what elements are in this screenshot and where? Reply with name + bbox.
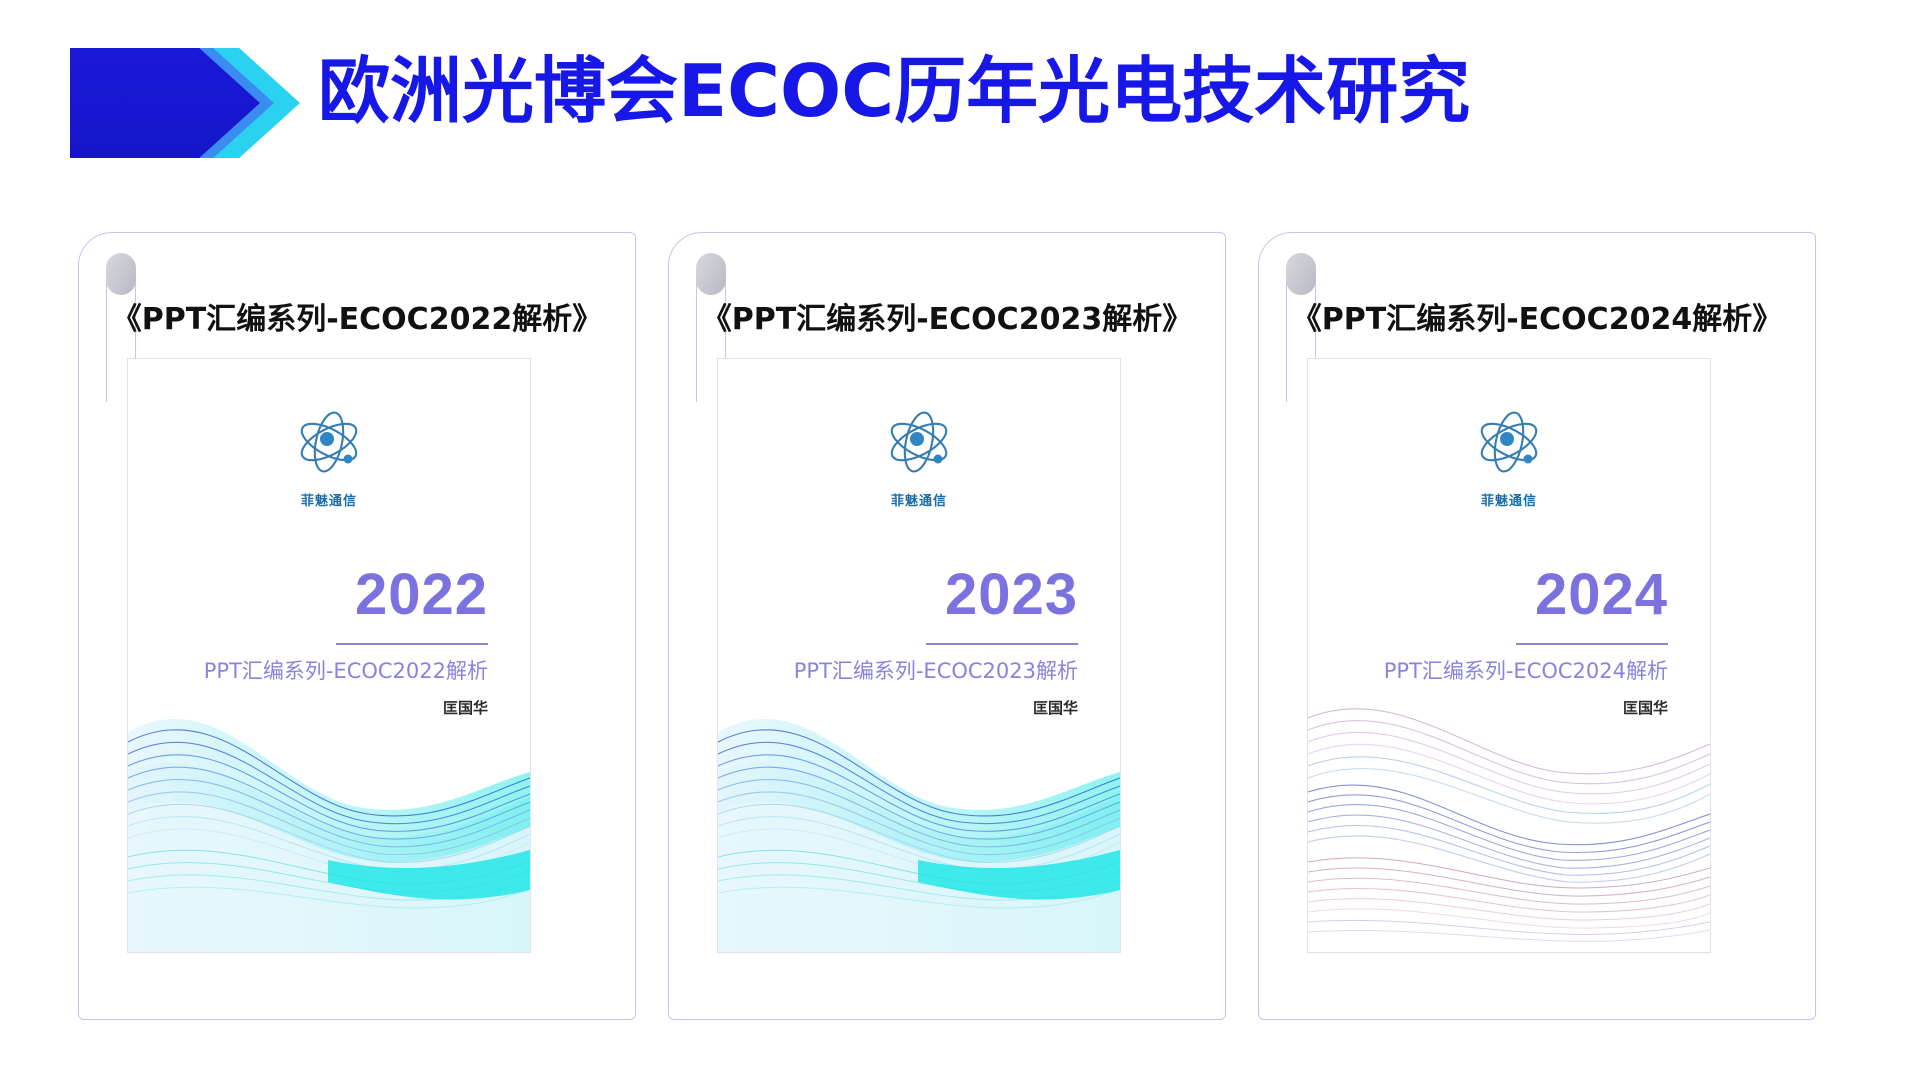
cover-author: 匡国华 bbox=[443, 697, 488, 718]
page-title: 欧洲光博会ECOC历年光电技术研究 bbox=[318, 50, 1470, 133]
cover-divider bbox=[336, 643, 488, 645]
cover-subtitle: PPT汇编系列-ECOC2023解析 bbox=[794, 655, 1078, 685]
brand-name: 菲魅通信 bbox=[718, 490, 1120, 509]
chevron-arrow-logo bbox=[70, 48, 300, 158]
ring-binder-pin-icon bbox=[106, 253, 136, 295]
cover-year: 2024 bbox=[1535, 566, 1668, 624]
atom-orbit-logo-icon bbox=[877, 409, 961, 483]
brand-name: 菲魅通信 bbox=[128, 490, 530, 509]
card-title: 《PPT汇编系列-ECOC2024解析》 bbox=[1258, 294, 1816, 338]
atom-orbit-logo-icon bbox=[287, 409, 371, 483]
cover-author: 匡国华 bbox=[1033, 697, 1078, 718]
page-header: 欧洲光博会ECOC历年光电技术研究 bbox=[0, 0, 1920, 182]
document-card[interactable]: 《PPT汇编系列-ECOC2022解析》 bbox=[78, 232, 638, 1022]
brand-name: 菲魅通信 bbox=[1308, 490, 1710, 509]
book-cover-thumbnail[interactable]: 菲魅通信 2022 PPT汇编系列-ECOC2022解析 匡国华 bbox=[127, 358, 531, 953]
book-cover-thumbnail[interactable]: 菲魅通信 2023 PPT汇编系列-ECOC2023解析 匡国华 bbox=[717, 358, 1121, 953]
cover-year: 2022 bbox=[355, 566, 488, 624]
brand-logo-block: 菲魅通信 bbox=[128, 409, 530, 509]
cover-year: 2023 bbox=[945, 566, 1078, 624]
brand-logo-block: 菲魅通信 bbox=[718, 409, 1120, 509]
book-cover-thumbnail[interactable]: 菲魅通信 2024 PPT汇编系列-ECOC2024解析 匡国华 bbox=[1307, 358, 1711, 953]
card-gallery: 《PPT汇编系列-ECOC2022解析》 bbox=[0, 182, 1920, 1062]
card-title: 《PPT汇编系列-ECOC2023解析》 bbox=[668, 294, 1226, 338]
ring-binder-pin-icon bbox=[1286, 253, 1316, 295]
brand-logo-block: 菲魅通信 bbox=[1308, 409, 1710, 509]
cover-subtitle: PPT汇编系列-ECOC2024解析 bbox=[1384, 655, 1668, 685]
cover-subtitle: PPT汇编系列-ECOC2022解析 bbox=[204, 655, 488, 685]
atom-orbit-logo-icon bbox=[1467, 409, 1551, 483]
cover-divider bbox=[926, 643, 1078, 645]
card-title: 《PPT汇编系列-ECOC2022解析》 bbox=[78, 294, 636, 338]
cover-divider bbox=[1516, 643, 1668, 645]
document-card[interactable]: 《PPT汇编系列-ECOC2023解析》 bbox=[668, 232, 1228, 1022]
cover-author: 匡国华 bbox=[1623, 697, 1668, 718]
ring-binder-pin-icon bbox=[696, 253, 726, 295]
document-card[interactable]: 《PPT汇编系列-ECOC2024解析》 bbox=[1258, 232, 1818, 1022]
